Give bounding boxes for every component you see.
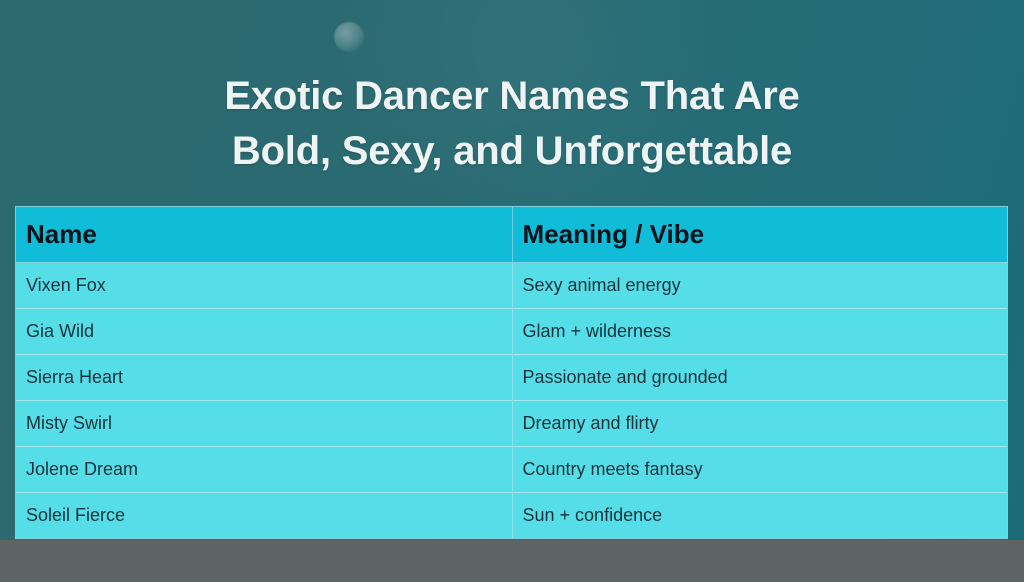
cell-name: Soleil Fierce [16, 492, 512, 538]
bottom-grey-band [0, 540, 1024, 582]
names-table: Name Meaning / Vibe Vixen Fox Sexy anima… [16, 207, 1007, 538]
table-row: Misty Swirl Dreamy and flirty [16, 400, 1007, 446]
cell-name: Sierra Heart [16, 354, 512, 400]
table-row: Jolene Dream Country meets fantasy [16, 446, 1007, 492]
cell-name: Jolene Dream [16, 446, 512, 492]
cell-meaning: Passionate and grounded [512, 354, 1007, 400]
table-header-row: Name Meaning / Vibe [16, 207, 1007, 262]
names-table-container: Name Meaning / Vibe Vixen Fox Sexy anima… [15, 206, 1008, 539]
page-title: Exotic Dancer Names That Are Bold, Sexy,… [0, 69, 1024, 179]
table-row: Soleil Fierce Sun + confidence [16, 492, 1007, 538]
cell-name: Misty Swirl [16, 400, 512, 446]
table-header: Name Meaning / Vibe [16, 207, 1007, 262]
slide-canvas: Exotic Dancer Names That Are Bold, Sexy,… [0, 0, 1024, 582]
column-header-meaning: Meaning / Vibe [512, 207, 1007, 262]
cell-meaning: Glam + wilderness [512, 308, 1007, 354]
cell-meaning: Sun + confidence [512, 492, 1007, 538]
cell-name: Gia Wild [16, 308, 512, 354]
page-title-line-1: Exotic Dancer Names That Are [0, 69, 1024, 124]
table-row: Vixen Fox Sexy animal energy [16, 262, 1007, 308]
table-row: Sierra Heart Passionate and grounded [16, 354, 1007, 400]
table-body: Vixen Fox Sexy animal energy Gia Wild Gl… [16, 262, 1007, 538]
column-header-name: Name [16, 207, 512, 262]
cell-meaning: Country meets fantasy [512, 446, 1007, 492]
moon-orb-icon [334, 22, 364, 52]
cell-name: Vixen Fox [16, 262, 512, 308]
cell-meaning: Dreamy and flirty [512, 400, 1007, 446]
cell-meaning: Sexy animal energy [512, 262, 1007, 308]
page-title-line-2: Bold, Sexy, and Unforgettable [0, 124, 1024, 179]
table-row: Gia Wild Glam + wilderness [16, 308, 1007, 354]
